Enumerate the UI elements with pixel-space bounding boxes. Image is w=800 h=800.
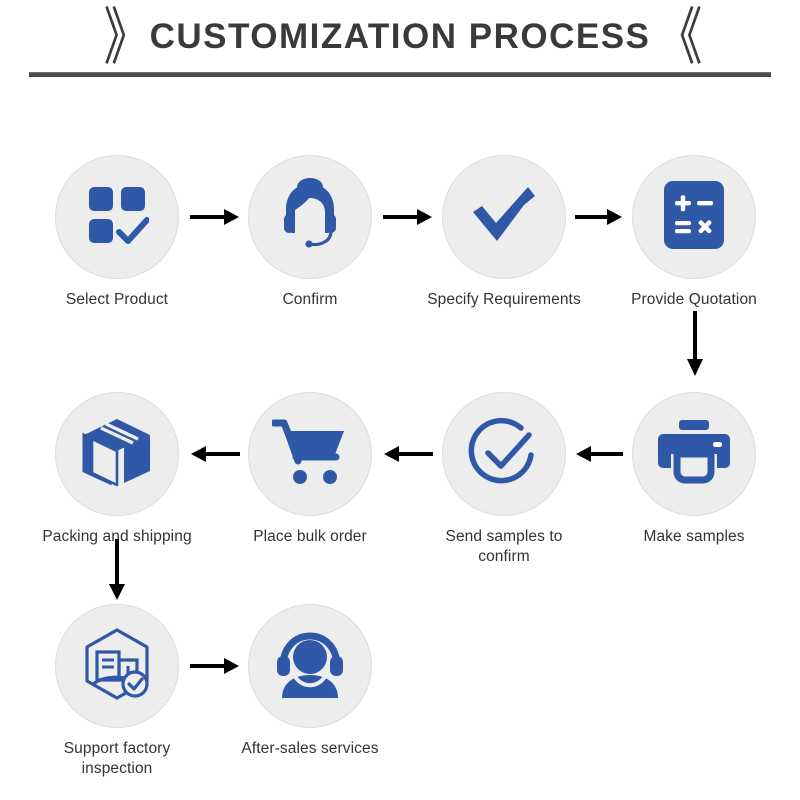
connector-arrow-right-1	[190, 205, 240, 229]
flow-step-label: Select Product	[32, 290, 202, 310]
flow-step-label: Make samples	[609, 527, 779, 547]
connector-arrow-down-2	[105, 539, 129, 601]
headset-person-icon	[272, 630, 348, 703]
printer-icon	[657, 418, 731, 491]
icon-circle	[248, 155, 372, 279]
package-box-icon	[80, 415, 154, 494]
connector-arrow-right-3	[575, 205, 623, 229]
flow-step-send-samples[interactable]: Send samples to confirm	[419, 392, 589, 567]
support-agent-icon	[271, 176, 349, 259]
chevron-right-decoration-icon: 》	[104, 6, 144, 68]
factory-verified-icon	[79, 626, 155, 707]
flow-step-label: Specify Requirements	[419, 290, 589, 310]
flow-step-label: Provide Quotation	[609, 290, 779, 310]
connector-arrow-right-2	[383, 205, 433, 229]
icon-circle	[632, 392, 756, 516]
icon-circle	[442, 155, 566, 279]
icon-circle	[55, 155, 179, 279]
chevron-left-decoration-icon: 《	[656, 6, 696, 68]
flow-step-factory-inspection[interactable]: Support factory inspection	[32, 604, 202, 779]
page-header: 》 CUSTOMIZATION PROCESS 《	[0, 0, 800, 77]
icon-circle	[55, 392, 179, 516]
flow-step-label: Support factory inspection	[32, 739, 202, 779]
icon-circle	[632, 155, 756, 279]
flow-step-label: After-sales services	[225, 739, 395, 759]
checkmark-icon	[468, 179, 540, 256]
flow-step-label: Send samples to confirm	[419, 527, 589, 567]
connector-arrow-left-1	[575, 442, 623, 466]
page-title: CUSTOMIZATION PROCESS	[150, 17, 651, 57]
process-flow-diagram: Select Product	[0, 77, 800, 777]
icon-circle	[248, 604, 372, 728]
connector-arrow-down-1	[683, 311, 707, 377]
connector-arrow-left-3	[190, 442, 240, 466]
flow-step-place-bulk-order[interactable]: Place bulk order	[225, 392, 395, 547]
flow-step-provide-quotation[interactable]: Provide Quotation	[609, 155, 779, 310]
icon-circle	[55, 604, 179, 728]
connector-arrow-left-2	[383, 442, 433, 466]
flow-step-confirm[interactable]: Confirm	[225, 155, 395, 310]
icon-circle	[442, 392, 566, 516]
circle-check-icon	[467, 415, 541, 494]
flow-step-make-samples[interactable]: Make samples	[609, 392, 779, 547]
flow-step-select-product[interactable]: Select Product	[32, 155, 202, 310]
connector-arrow-right-4	[190, 654, 240, 678]
title-row: 》 CUSTOMIZATION PROCESS 《	[0, 14, 800, 60]
flow-step-label: Confirm	[225, 290, 395, 310]
flow-step-packing-shipping[interactable]: Packing and shipping	[32, 392, 202, 547]
flow-step-specify-requirements[interactable]: Specify Requirements	[419, 155, 589, 310]
flow-step-label: Place bulk order	[225, 527, 395, 547]
calculator-icon	[662, 179, 726, 256]
shopping-cart-icon	[272, 417, 348, 492]
grid-check-icon	[85, 183, 149, 252]
flow-step-after-sales[interactable]: After-sales services	[225, 604, 395, 759]
icon-circle	[248, 392, 372, 516]
